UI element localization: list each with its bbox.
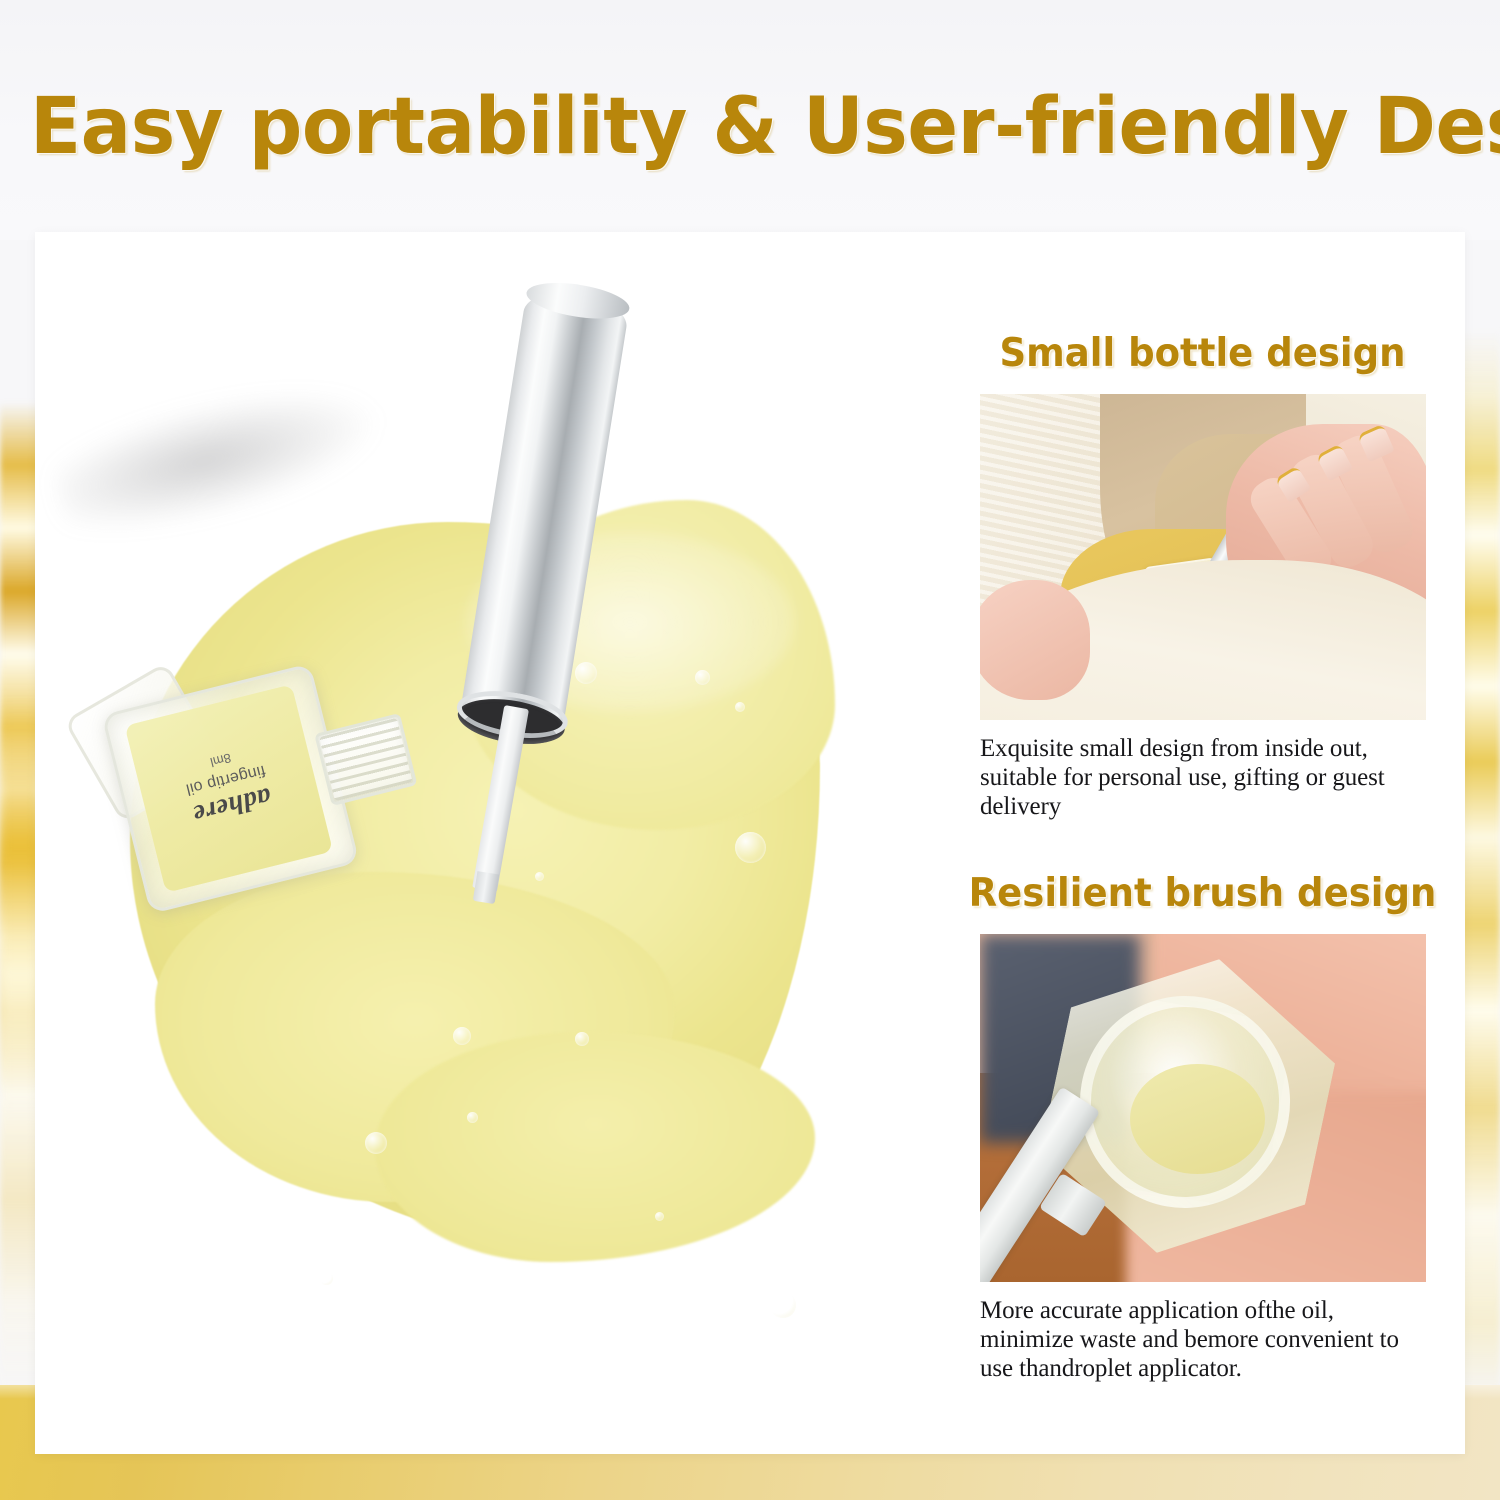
feature-photo-small-bottle: [980, 394, 1426, 720]
feature-block-small-bottle: Small bottle design: [940, 332, 1465, 821]
bottle-drop-shadow: [47, 364, 394, 551]
oil-bubble: [735, 832, 766, 863]
hero-product-photo: adhere fingertip oil 8ml: [35, 232, 940, 1454]
oil-bubble: [655, 1212, 664, 1221]
feature-caption-small-bottle: Exquisite small design from inside out, …: [980, 734, 1430, 821]
background-oil-streaks-left-secondary: [0, 700, 40, 1120]
hand-left: [980, 580, 1090, 700]
feature-heading-small-bottle: Small bottle design: [953, 332, 1452, 376]
oil-bubble: [735, 702, 745, 712]
infographic-page: Easy portability & User-friendly Design: [0, 0, 1500, 1500]
oil-bubble: [320, 1272, 333, 1285]
oil-bubble: [575, 1032, 589, 1046]
content-card: adhere fingertip oil 8ml Small bottle de…: [35, 232, 1465, 1454]
bottle-oil-pool: [1130, 1064, 1265, 1174]
feature-heading-resilient-brush: Resilient brush design: [953, 872, 1452, 916]
feature-photo-resilient-brush: [980, 934, 1426, 1282]
product-volume: 8ml: [209, 750, 233, 770]
feature-caption-resilient-brush: More accurate application ofthe oil, min…: [980, 1296, 1430, 1383]
feature-block-resilient-brush: Resilient brush design More accurate app…: [940, 872, 1465, 1383]
page-title: Easy portability & User-friendly Design: [30, 84, 1470, 170]
oil-puddle-lobe-bottom: [375, 1032, 815, 1262]
oil-bubble: [467, 1112, 478, 1123]
brush-tip: [473, 871, 499, 904]
oil-bubble: [770, 1292, 796, 1318]
oil-bubble: [365, 1132, 387, 1154]
oil-bubble: [453, 1027, 471, 1045]
oil-bubble: [535, 872, 544, 881]
feature-column: Small bottle design: [940, 232, 1465, 1454]
oil-bubble: [695, 670, 710, 685]
